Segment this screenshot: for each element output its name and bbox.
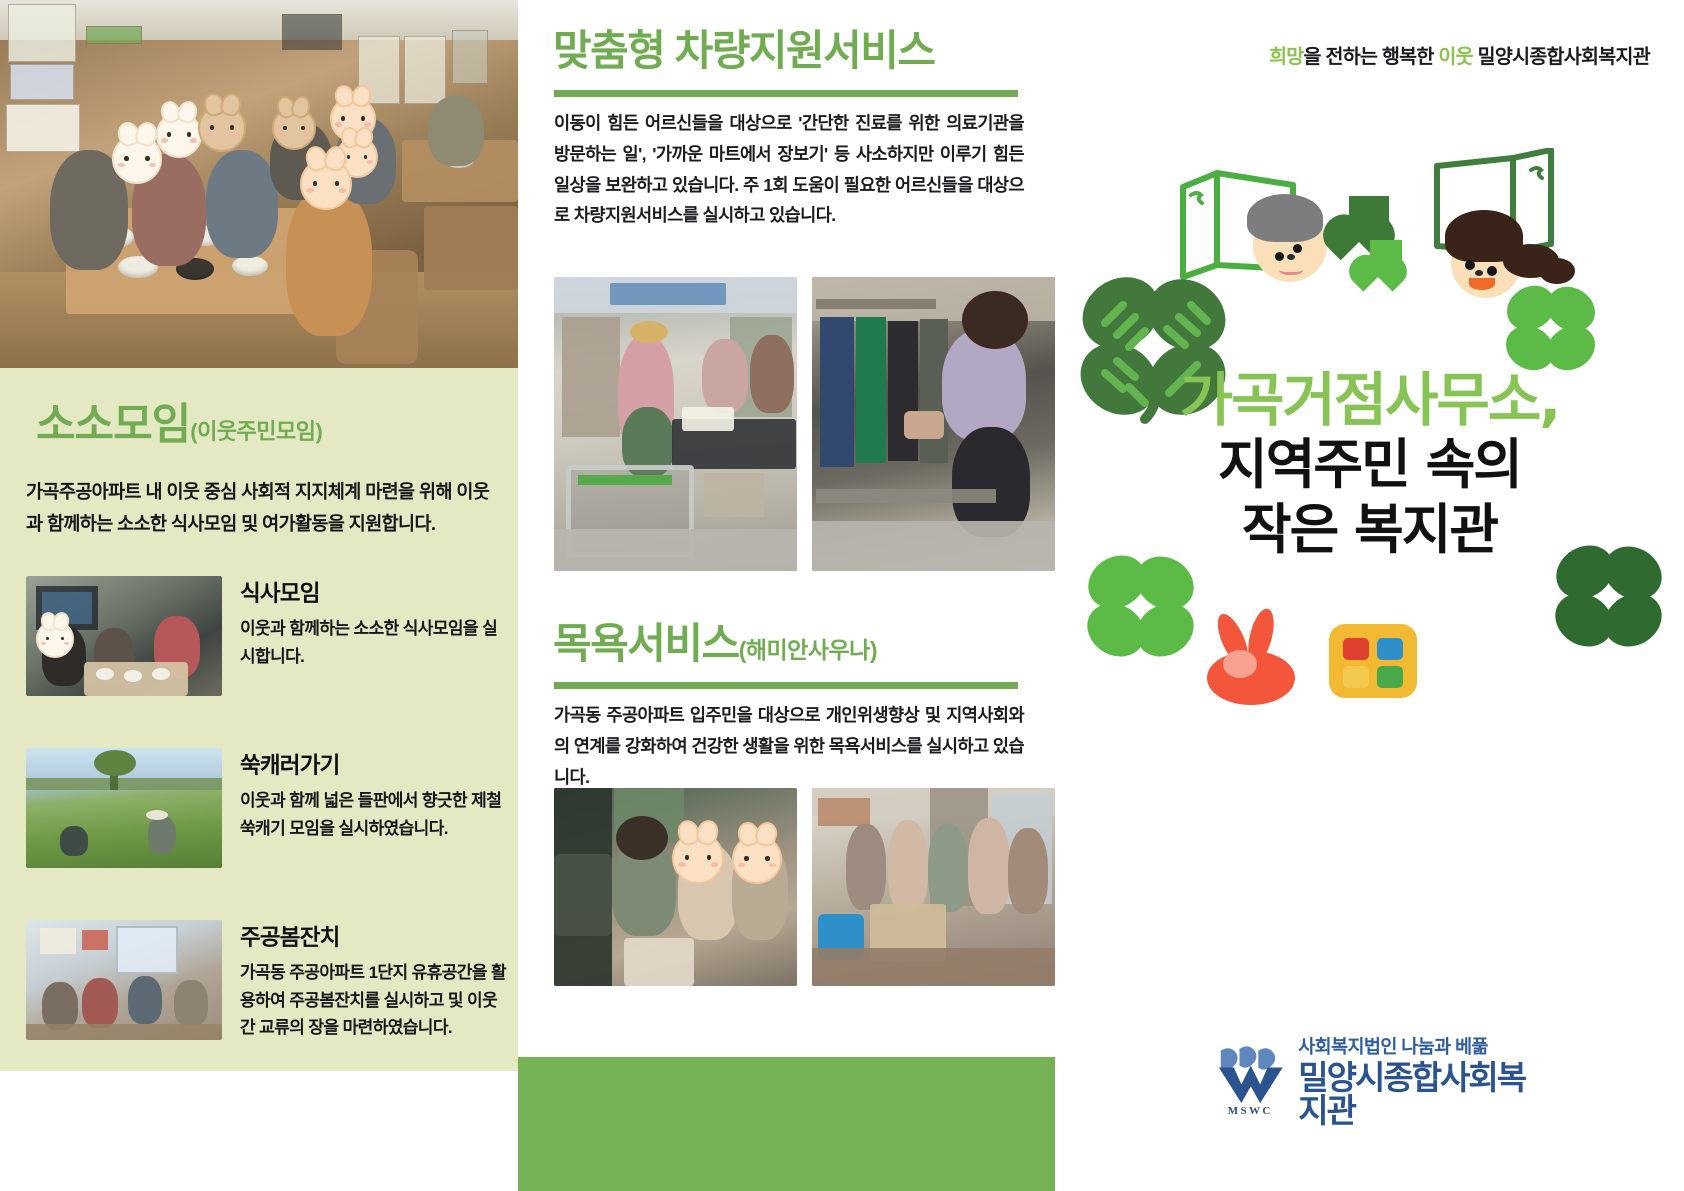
hero-notice-board-3 — [6, 104, 80, 152]
hero-ceiling — [0, 0, 518, 40]
privacy-sticker-7 — [300, 158, 352, 210]
bath-service-rule — [554, 682, 1018, 689]
photo-person-1 — [42, 982, 78, 1030]
left-panel: 소소모임(이웃주민모임) 가곡주공아파트 내 이웃 중심 사회적 지지체계 마련… — [0, 0, 518, 1191]
bath-service-title-sub: (해미안사우나) — [739, 637, 877, 663]
photo-rack-base — [816, 489, 996, 503]
sticker-blush-left — [41, 642, 46, 645]
sticker-eyes — [123, 156, 151, 161]
photo-cart-handle — [578, 475, 672, 485]
hero-wall-sign-3 — [452, 30, 488, 84]
photo-banner — [82, 930, 108, 950]
photo-hand — [904, 411, 944, 439]
photo-goods — [682, 407, 734, 431]
grandma-face — [1253, 208, 1327, 282]
sticker-blush-right — [367, 160, 373, 164]
heart-dark-icon — [1349, 196, 1389, 232]
photo-person-3 — [128, 976, 162, 1024]
photo-person-2 — [148, 816, 176, 854]
sticker-blush-right — [364, 122, 371, 126]
sticker-eyes — [45, 637, 65, 640]
vehicle-service-title-main: 맞춤형 차량지원서비스 — [553, 27, 935, 74]
photo-content — [26, 576, 222, 696]
photo-wood-panel — [818, 798, 870, 826]
soso-moim-title: 소소모임(이웃주민모임) — [36, 404, 322, 447]
sticker-blush-right — [339, 188, 347, 193]
privacy-sticker-1 — [112, 134, 162, 184]
photo-tree-crown — [94, 750, 136, 776]
logo-line1: 사회복지법인 나눔과 베풂 — [1298, 1033, 1527, 1059]
sticker-blush-right — [769, 863, 776, 868]
logo-wordmark: 사회복지법인 나눔과 베풂 밀양시종합사회복지관 — [1298, 1033, 1527, 1127]
bottom-green-bar — [518, 1057, 1055, 1191]
vehicle-service-rule — [554, 90, 1018, 97]
photo-passenger-1-hair — [616, 816, 668, 860]
tagline-tail: 밀양시종합사회복지관 — [1473, 46, 1650, 68]
paint-palette-icon — [1323, 618, 1423, 704]
item-text-block: 식사모임 이웃과 함께하는 소소한 식사모임을 실시합니다. — [240, 576, 506, 670]
sticker-blush-left — [678, 862, 686, 867]
grandma-eye-left — [1275, 252, 1284, 261]
sticker-blush-left — [161, 138, 168, 142]
photo-person-2 — [702, 339, 748, 413]
photo-person-4 — [174, 980, 208, 1026]
organization-logo: MSWC 사회복지법인 나눔과 베풂 밀양시종합사회복지관 — [1212, 1033, 1527, 1127]
photo-clothing-store — [812, 277, 1055, 571]
sticker-blush-right — [711, 862, 719, 867]
sticker-blush-right — [233, 132, 240, 136]
cover-title-line2: 지역주민 속의 — [1055, 433, 1684, 498]
vehicle-service-photos — [554, 277, 1055, 571]
sticker-blush-left — [277, 131, 283, 135]
logo-emblem: MSWC — [1212, 1045, 1288, 1115]
photo-treeline — [26, 778, 222, 790]
logo-mswc-text: MSWC — [1212, 1105, 1288, 1117]
photo-hat — [146, 810, 168, 820]
photo-poster — [40, 928, 76, 954]
hero-photo-dining-hall — [0, 0, 518, 368]
item-heading: 쑥캐러가기 — [240, 748, 506, 780]
sticker-blush-left — [738, 863, 745, 868]
sticker-eyes — [684, 855, 713, 860]
cover-panel: 희망을 전하는 행복한 이웃 밀양시종합사회복지관 — [1055, 0, 1684, 1191]
grandma-eye-right — [1293, 244, 1302, 253]
sticker-blush-left — [118, 163, 125, 168]
bath-service-body: 가곡동 주공아파트 입주민을 대상으로 개인위생향상 및 지역사회와의 연계를 … — [554, 700, 1024, 792]
item-photo-spring-feast — [26, 920, 222, 1040]
photo-bathhouse-lobby — [812, 788, 1055, 986]
photo-floor — [26, 1024, 222, 1040]
photo-person-3 — [750, 335, 794, 413]
photo-box — [704, 473, 764, 517]
item-body: 가곡동 주공아파트 1단지 유휴공간을 활용하여 주공봄잔치를 실시하고 및 이… — [240, 959, 506, 1042]
sticker-blush-left — [306, 188, 314, 193]
sticker-eyes — [340, 116, 365, 120]
photo-store-banner — [610, 283, 726, 305]
mswc-emblem-icon — [1212, 1045, 1288, 1105]
photo-mart-shopping — [554, 277, 797, 571]
photo-hat — [630, 321, 668, 343]
vehicle-service-title: 맞춤형 차량지원서비스 — [553, 30, 935, 72]
list-item: 쑥캐러가기 이웃과 함께 넓은 들판에서 향긋한 제철 쑥캐기 모임을 실시하였… — [26, 748, 506, 868]
soso-moim-section: 소소모임(이웃주민모임) 가곡주공아파트 내 이웃 중심 사회적 지지체계 마련… — [0, 368, 518, 1071]
item-body: 이웃과 함께하는 소소한 식사모임을 실시합니다. — [240, 615, 506, 670]
cover-title-line3: 작은 복지관 — [1055, 498, 1684, 563]
sticker-eyes — [282, 126, 306, 130]
item-photo-meal-gathering — [26, 576, 222, 696]
item-heading: 주공봄잔치 — [240, 920, 506, 952]
woman-eye-left — [1465, 260, 1475, 270]
hero-notice-board-1 — [8, 4, 76, 62]
hero-person-7 — [428, 96, 484, 166]
soso-moim-title-main: 소소모임 — [36, 401, 190, 449]
sticker-blush-left — [204, 132, 211, 136]
sticker-blush-left — [335, 122, 342, 126]
photo-floor — [554, 529, 797, 571]
sticker-eyes — [743, 856, 771, 861]
list-item: 식사모임 이웃과 함께하는 소소한 식사모임을 실시합니다. — [26, 576, 506, 696]
photo-person-5 — [1008, 828, 1048, 914]
bath-service-photos — [554, 788, 1055, 986]
photo-person-1 — [60, 826, 88, 856]
tagline-middle: 을 전하는 행복한 — [1304, 46, 1439, 68]
photo-content — [26, 748, 222, 868]
hero-chair-right — [424, 206, 518, 290]
tagline-highlight-hope: 희망 — [1269, 46, 1303, 68]
photo-rail — [816, 299, 936, 309]
photo-bowl-2 — [124, 670, 142, 682]
photo-floor — [812, 948, 1055, 986]
hero-banner — [86, 26, 142, 44]
photo-bag — [624, 938, 694, 986]
sticker-blush-right — [64, 642, 69, 645]
privacy-sticker — [36, 620, 74, 658]
photo-bus-seat — [554, 854, 612, 936]
photo-garment-1 — [820, 317, 854, 467]
cover-title: 가곡거점사무소, 지역주민 속의 작은 복지관 — [1055, 368, 1684, 563]
hero-person-3 — [206, 150, 278, 258]
photo-bowl-1 — [96, 668, 114, 680]
hero-tv — [282, 14, 342, 50]
sticker-blush-right — [304, 131, 310, 135]
grandma-nose — [1287, 254, 1295, 260]
vehicle-service-body: 이동이 힘든 어르신들을 대상으로 '간단한 진료를 위한 의료기관을 방문하는… — [554, 108, 1024, 231]
photo-window — [116, 926, 178, 974]
hero-bowl-7 — [232, 256, 268, 276]
item-text-block: 주공봄잔치 가곡동 주공아파트 1단지 유휴공간을 활용하여 주공봄잔치를 실시… — [240, 920, 506, 1042]
photo-person-2 — [888, 820, 928, 912]
list-item: 주공봄잔치 가곡동 주공아파트 1단지 유휴공간을 활용하여 주공봄잔치를 실시… — [26, 920, 506, 1040]
item-text-block: 쑥캐러가기 이웃과 함께 넓은 들판에서 향긋한 제철 쑥캐기 모임을 실시하였… — [240, 748, 506, 842]
sticker-eyes — [312, 181, 341, 186]
privacy-sticker-2 — [156, 112, 202, 158]
cover-title-line1: 가곡거점사무소, — [1055, 368, 1684, 433]
item-body: 이웃과 함께 넓은 들판에서 향긋한 제철 쑥캐기 모임을 실시하였습니다. — [240, 787, 506, 842]
left-panel-bottom-white — [0, 1071, 518, 1191]
logo-line2: 밀양시종합사회복지관 — [1298, 1061, 1527, 1127]
photo-garment-2 — [856, 317, 886, 463]
bath-service-title-main: 목욕서비스 — [553, 620, 739, 667]
soso-moim-title-sub: (이웃주민모임) — [190, 419, 322, 444]
middle-panel: 맞춤형 차량지원서비스 이동이 힘든 어르신들을 대상으로 '간단한 진료를 위… — [518, 0, 1055, 1191]
sticker-blush-right — [149, 163, 156, 168]
grandma-hair — [1247, 194, 1323, 242]
bath-service-title: 목욕서비스(해미안사우나) — [553, 623, 877, 665]
brand-tagline: 희망을 전하는 행복한 이웃 밀양시종합사회복지관 — [1269, 40, 1650, 69]
sticker-eyes — [209, 125, 235, 129]
soso-moim-item-list: 식사모임 이웃과 함께하는 소소한 식사모임을 실시합니다. — [26, 576, 506, 1092]
privacy-sticker-1 — [672, 832, 724, 884]
heart-light-icon — [1370, 240, 1402, 269]
sticker-blush-right — [190, 138, 197, 142]
grandma-mouth — [1279, 262, 1303, 275]
photo-garment-3 — [888, 321, 918, 461]
hero-wall-sign-2 — [404, 36, 446, 104]
photo-person-4 — [968, 818, 1010, 914]
photo-bowl-3 — [152, 668, 170, 680]
woman-mouth — [1469, 278, 1495, 290]
item-heading: 식사모임 — [240, 576, 506, 608]
hero-notice-board-2 — [10, 64, 74, 100]
item-photo-mugwort-picking — [26, 748, 222, 868]
privacy-sticker-4 — [272, 106, 316, 150]
brochure-page: 소소모임(이웃주민모임) 가곡주공아파트 내 이웃 중심 사회적 지지체계 마련… — [0, 0, 1684, 1191]
photo-bus-boarding — [554, 788, 797, 986]
photo-person-1 — [846, 824, 886, 910]
sticker-eyes — [166, 132, 191, 136]
photo-person-2 — [82, 978, 118, 1028]
rabbit-icon — [1193, 608, 1313, 708]
sticker-eyes — [346, 155, 369, 159]
privacy-sticker-3 — [198, 104, 246, 152]
privacy-sticker-2 — [732, 834, 782, 884]
woman-nose — [1475, 270, 1483, 276]
soso-moim-description: 가곡주공아파트 내 이웃 중심 사회적 지지체계 마련을 위해 이웃과 함께하는… — [26, 476, 496, 540]
photo-person-3 — [928, 824, 968, 912]
tagline-highlight-neighbor: 이웃 — [1438, 46, 1472, 68]
photo-floor — [812, 521, 1055, 571]
photo-customer-hair — [962, 291, 1028, 349]
photo-shelf-left — [562, 317, 620, 437]
photo-content — [26, 920, 222, 1040]
